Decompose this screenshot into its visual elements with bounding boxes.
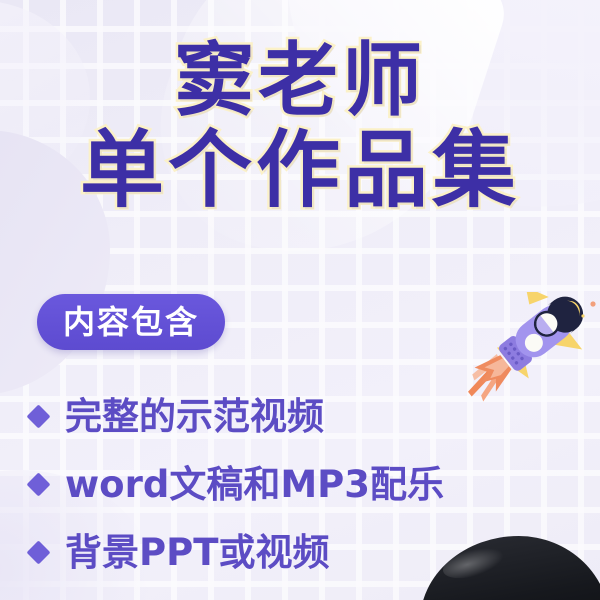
list-item-label: word文稿和MP3配乐 bbox=[65, 466, 444, 503]
title-line-1: 窦老师 bbox=[0, 40, 600, 122]
contents-badge-label: 内容包含 bbox=[63, 306, 199, 338]
title-line-2: 单个作品集 bbox=[0, 128, 600, 214]
list-item-label: 背景PPT或视频 bbox=[65, 534, 329, 571]
diamond-bullet-icon bbox=[26, 472, 50, 496]
list-item: word文稿和MP3配乐 bbox=[30, 450, 550, 518]
diamond-bullet-icon bbox=[26, 404, 50, 428]
list-item-label: 完整的示范视频 bbox=[65, 398, 324, 435]
contents-badge: 内容包含 bbox=[37, 294, 225, 350]
poster-canvas: 窦老师 单个作品集 内容包含 完整的示范视频 word文稿和MP3配乐 背景PP… bbox=[0, 0, 600, 600]
list-item: 完整的示范视频 bbox=[30, 382, 550, 450]
diamond-bullet-icon bbox=[26, 540, 50, 564]
page-title: 窦老师 单个作品集 bbox=[0, 40, 600, 213]
